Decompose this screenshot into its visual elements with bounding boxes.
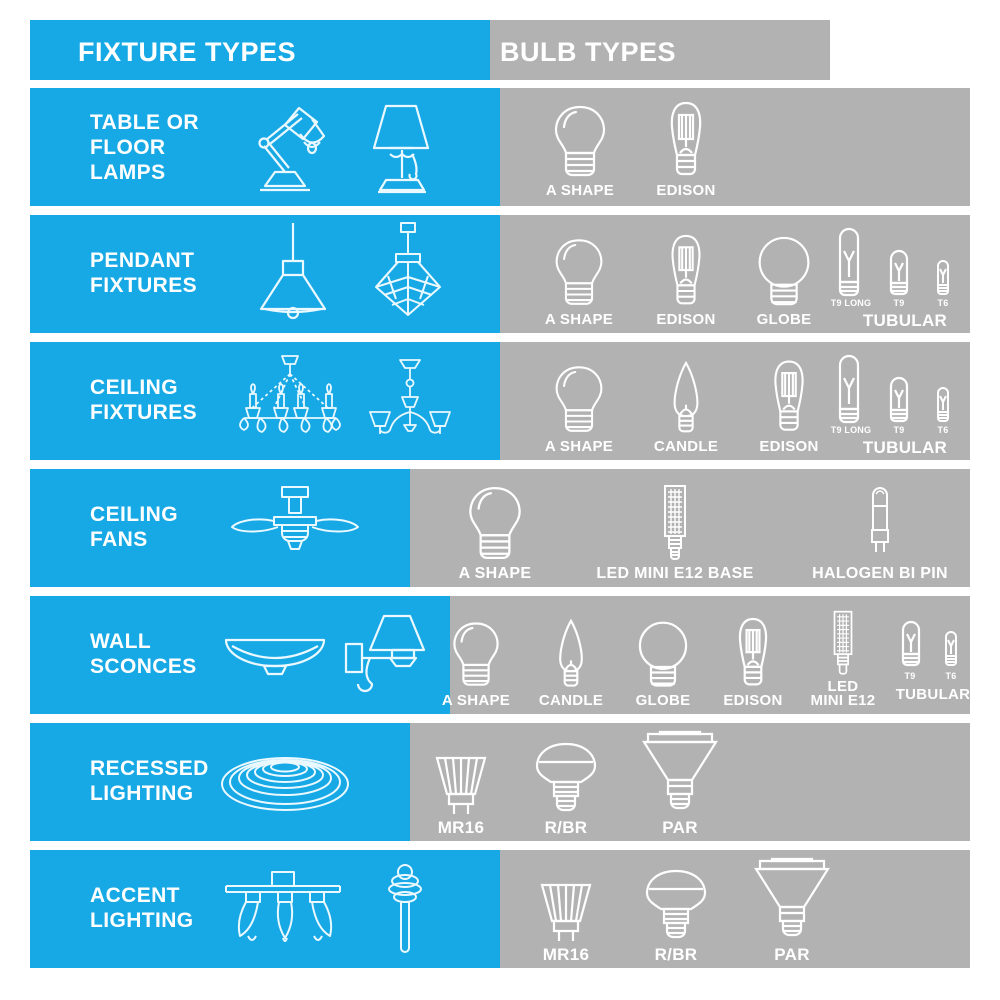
edison-bulb-icon: [730, 617, 776, 691]
bulb-label: A SHAPE: [545, 439, 613, 454]
bulb-label: EDISON: [656, 312, 715, 327]
tubular-sub-label: T9 LONG: [830, 425, 872, 435]
a-shape-bulb-icon: [449, 619, 503, 691]
bulb-cell[interactable]: A SHAPE: [535, 354, 623, 454]
bulb-label: MR16: [438, 820, 485, 835]
bulb-cell[interactable]: LED MINI E12: [800, 602, 886, 708]
recessed-can-icon: [220, 751, 350, 817]
header-bulb-types-label: BULB TYPES: [500, 37, 676, 68]
row-recessed-lighting[interactable]: RECESSED LIGHTING MR16: [30, 723, 970, 841]
tubular-sub-label: T9 LONG: [830, 298, 872, 308]
bulb-cell[interactable]: HALOGEN BI PIN: [790, 477, 970, 581]
bulb-cell[interactable]: A SHAPE: [435, 608, 517, 708]
bulb-label: GLOBE: [636, 693, 691, 708]
row-wall-sconces[interactable]: WALL SCONCES A SHAPE: [30, 596, 970, 714]
tubular-bulb-group[interactable]: T9 LONG T9 T6 TUBULAR: [830, 227, 980, 331]
bulb-cell[interactable]: EDISON: [642, 227, 730, 327]
r-br-bulb-icon: [535, 740, 597, 818]
fixture-label: TABLE OR FLOOR LAMPS: [90, 110, 199, 185]
bulb-cell[interactable]: GLOBE: [622, 608, 704, 708]
bulb-cell[interactable]: A SHAPE: [535, 227, 623, 327]
r-br-bulb-icon: [645, 867, 707, 945]
candle-bulb-icon: [666, 361, 706, 437]
bulb-cell[interactable]: R/BR: [630, 860, 722, 962]
bulb-cell[interactable]: A SHAPE: [425, 477, 565, 581]
tubular-sub-label: T6: [932, 425, 954, 435]
fixture-label: RECESSED LIGHTING: [90, 756, 209, 806]
edison-bulb-icon: [765, 359, 813, 437]
row-table-or-floor-lamps[interactable]: TABLE OR FLOOR LAMPS: [30, 88, 970, 206]
tubular-bulb-icon-t6: [942, 630, 960, 670]
bulb-label: TUBULAR: [830, 438, 980, 458]
tubular-bulb-group[interactable]: T9 T6 TUBULAR: [888, 608, 980, 712]
bulb-label: EDISON: [656, 183, 715, 198]
globe-bulb-icon: [634, 619, 692, 691]
bulb-label: R/BR: [655, 947, 698, 962]
bulb-cell[interactable]: PAR: [630, 725, 730, 835]
bulb-label: CANDLE: [539, 693, 603, 708]
bulb-label: GLOBE: [757, 312, 812, 327]
par-bulb-icon: [752, 857, 832, 945]
bulb-label: EDISON: [759, 439, 818, 454]
bulb-cell[interactable]: LED MINI E12 BASE: [575, 477, 775, 581]
table-lamp-icon: [360, 98, 444, 196]
tubular-bulb-icon-t6: [934, 386, 952, 426]
ceiling-fan-icon: [230, 481, 360, 577]
bulb-cell[interactable]: CANDLE: [530, 608, 612, 708]
edison-bulb-icon: [662, 234, 710, 310]
tubular-bulb-icon-t9: [886, 249, 912, 299]
tubular-bulb-icon-t9-long: [834, 227, 864, 299]
bulb-label: A SHAPE: [546, 183, 614, 198]
bulb-label: EDISON: [723, 693, 782, 708]
wall-bowl-sconce-icon: [220, 626, 330, 688]
bulb-label: A SHAPE: [442, 693, 510, 708]
row-ceiling-fixtures[interactable]: CEILING FIXTURES: [30, 342, 970, 460]
bulb-label: HALOGEN BI PIN: [812, 566, 948, 581]
edison-bulb-icon: [661, 101, 711, 181]
tubular-sub-label: T6: [940, 671, 962, 681]
candle-bulb-icon: [552, 619, 590, 691]
row-accent-lighting[interactable]: ACCENT LIGHTING: [30, 850, 970, 968]
pendant-cone-icon: [245, 221, 341, 321]
fixture-label: ACCENT LIGHTING: [90, 883, 194, 933]
led-mini-bulb-icon: [655, 484, 695, 564]
tubular-sub-label: T9: [886, 298, 912, 308]
chandelier-icon: [230, 352, 350, 452]
led-mini-bulb-icon: [826, 610, 860, 678]
bulb-label: A SHAPE: [459, 566, 532, 581]
tubular-bulb-group[interactable]: T9 LONG T9 T6 TUBULAR: [830, 354, 980, 458]
tubular-bulb-icon-t9: [886, 376, 912, 426]
a-shape-bulb-icon: [464, 484, 526, 564]
bulb-cell[interactable]: GLOBE: [740, 227, 828, 327]
bulb-cell[interactable]: MR16: [520, 868, 612, 962]
tubular-sub-label: T6: [932, 298, 954, 308]
a-shape-bulb-icon: [551, 236, 607, 310]
tubular-bulb-icon-t6: [934, 259, 952, 299]
bulb-label: TUBULAR: [884, 686, 982, 703]
track-lighting-icon: [220, 870, 350, 950]
par-bulb-icon: [640, 730, 720, 818]
bulb-cell[interactable]: EDISON: [640, 98, 732, 198]
row-pendant-fixtures[interactable]: PENDANT FIXTURES A: [30, 215, 970, 333]
fixture-label: CEILING FIXTURES: [90, 375, 197, 425]
row-ceiling-fans[interactable]: CEILING FANS A SHAPE: [30, 469, 970, 587]
bulb-label: A SHAPE: [545, 312, 613, 327]
bulb-label: PAR: [774, 947, 810, 962]
pendant-cage-icon: [360, 221, 456, 321]
bulb-cell[interactable]: EDISON: [710, 608, 796, 708]
fixture-label: WALL SCONCES: [90, 629, 197, 679]
landscape-stake-light-icon: [375, 862, 435, 958]
tubular-sub-label: T9: [896, 671, 924, 681]
bulb-cell[interactable]: EDISON: [745, 354, 833, 454]
tubular-bulb-icon-t9: [898, 620, 924, 670]
bulb-label: R/BR: [545, 820, 588, 835]
bulb-label: MR16: [543, 947, 590, 962]
mr16-bulb-icon: [433, 750, 489, 818]
desk-lamp-icon: [242, 98, 342, 196]
bulb-label: CANDLE: [654, 439, 718, 454]
bulb-label: PAR: [662, 820, 698, 835]
a-shape-bulb-icon: [550, 103, 610, 181]
bulb-cell[interactable]: MR16: [415, 741, 507, 835]
fixture-label: PENDANT FIXTURES: [90, 248, 197, 298]
tubular-bulb-icon-t9-long: [834, 354, 864, 426]
bulb-cell[interactable]: A SHAPE: [535, 98, 625, 198]
halogen-bipin-bulb-icon: [863, 484, 897, 564]
bulb-label: TUBULAR: [830, 311, 980, 331]
mini-chandelier-icon: [360, 352, 460, 452]
header-fixture-types-label: FIXTURE TYPES: [78, 37, 296, 68]
infographic-root: FIXTURE TYPES BULB TYPES TABLE OR FLOOR …: [0, 0, 1000, 1000]
a-shape-bulb-icon: [551, 363, 607, 437]
fixture-label: CEILING FANS: [90, 502, 178, 552]
tubular-sub-label: T9: [886, 425, 912, 435]
bulb-label: LED MINI E12: [811, 680, 876, 708]
bulb-label: LED MINI E12 BASE: [596, 566, 753, 581]
header-row: FIXTURE TYPES BULB TYPES: [30, 20, 970, 80]
wall-shade-sconce-icon: [340, 610, 430, 700]
bulb-cell[interactable]: PAR: [742, 852, 842, 962]
mr16-bulb-icon: [538, 877, 594, 945]
bulb-cell[interactable]: CANDLE: [642, 354, 730, 454]
bulb-cell[interactable]: R/BR: [520, 733, 612, 835]
globe-bulb-icon: [754, 234, 814, 310]
